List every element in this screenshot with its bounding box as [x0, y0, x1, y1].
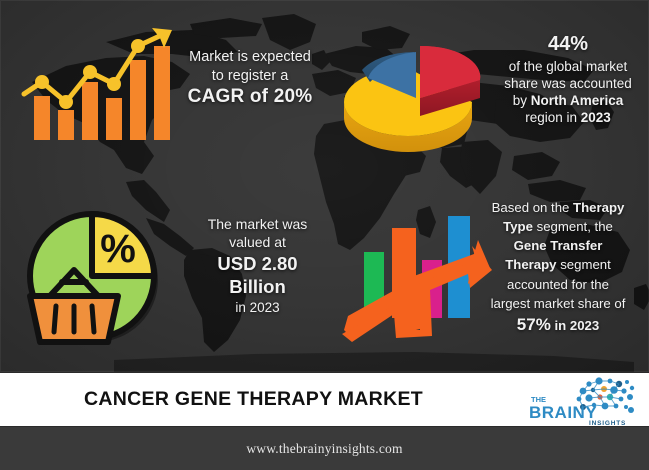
stat-seg-line1-normal: Based on the: [492, 200, 573, 215]
stat-value-line2: valued at: [186, 234, 329, 252]
stat-na-line5: region in 2023: [492, 109, 644, 126]
brainy-insights-logo[interactable]: THE BRAINY INSIGHTS: [527, 376, 639, 426]
stat-seg-line2-bold: Type: [503, 219, 533, 234]
stat-seg-line4: Therapy segment: [470, 255, 646, 274]
stat-seg-line2-normal: segment, the: [533, 219, 613, 234]
basket-pie-percent-icon: %: [18, 204, 170, 352]
logo-insights: INSIGHTS: [589, 420, 626, 426]
stat-value-unit: Billion: [186, 275, 329, 299]
website-url[interactable]: www.thebrainyinsights.com: [246, 441, 402, 457]
stat-seg-line4-bold: Therapy: [505, 257, 556, 272]
stat-na-line5-prefix: region in: [525, 110, 581, 125]
stat-seg-line5: accounted for the: [470, 275, 646, 294]
stat-seg-line7: 57% in 2023: [470, 313, 646, 338]
stat-seg-year: in 2023: [551, 318, 599, 333]
stat-cagr-line1: Market is expected: [172, 48, 328, 67]
stat-value-year: in 2023: [186, 299, 329, 316]
stat-cagr-value: CAGR of 20%: [172, 85, 328, 109]
stat-value-line1: The market was: [186, 216, 329, 234]
infographic-canvas: % Market is expected to register a CAGR …: [0, 0, 649, 470]
stat-na-line2: of the global market: [492, 58, 644, 75]
pie-chart-3d-icon: [338, 22, 490, 160]
stat-na-line4-prefix: by: [513, 93, 531, 108]
stat-na-line3: share was accounted: [492, 75, 644, 92]
stat-cagr-line2: to register a: [172, 67, 328, 86]
stat-seg-line2: Type segment, the: [470, 217, 646, 236]
bar-line-growth-chart-icon: [18, 24, 180, 146]
stat-seg-line4-normal: segment: [557, 257, 611, 272]
svg-text:%: %: [100, 227, 136, 271]
stat-na-year: 2023: [581, 110, 611, 125]
stat-seg-value: 57%: [517, 315, 551, 334]
logo-brainy: BRAINY: [529, 403, 597, 422]
title-bar: CANCER GENE THERAPY MARKET: [0, 372, 649, 427]
stat-seg-line1-bold: Therapy: [573, 200, 624, 215]
stat-na-line4: by North America: [492, 92, 644, 109]
stat-seg-line6: largest market share of: [470, 294, 646, 313]
stat-seg-line3: Gene Transfer: [470, 236, 646, 255]
stat-market-value-text: The market was valued at USD 2.80 Billio…: [186, 216, 329, 316]
stat-na-value: 44%: [492, 32, 644, 58]
stat-na-region: North America: [531, 93, 624, 108]
stat-therapy-segment-text: Based on the Therapy Type segment, the G…: [470, 198, 646, 337]
stat-cagr-text: Market is expected to register a CAGR of…: [172, 48, 328, 109]
stat-value-amount: USD 2.80: [186, 252, 329, 276]
page-title: CANCER GENE THERAPY MARKET: [84, 388, 423, 411]
stat-north-america-text: 44% of the global market share was accou…: [492, 32, 644, 127]
url-bar: www.thebrainyinsights.com: [0, 427, 649, 470]
stat-seg-line1: Based on the Therapy: [470, 198, 646, 217]
